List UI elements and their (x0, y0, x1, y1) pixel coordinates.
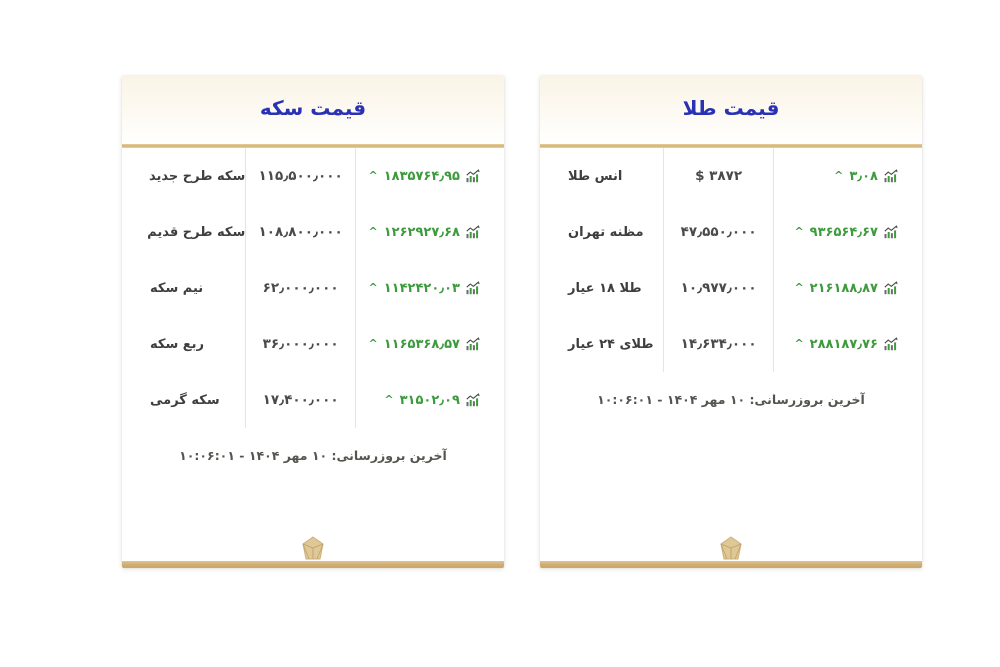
table-row[interactable]: ۳٫۰۸ ^ ۳۸۷۲ $ انس طلا (554, 148, 908, 204)
chart-trend-up-icon (884, 169, 898, 183)
chart-trend-up-icon (466, 281, 480, 295)
gold-table-body: ۳٫۰۸ ^ ۳۸۷۲ $ انس طلا (554, 148, 908, 372)
table-row[interactable]: ۱۸۳۵۷۶۴٫۹۵ ^ ۱۱۵٫۵۰۰٫۰۰۰ سکه طرح جدید (136, 148, 490, 204)
gold-row-2-change-value: ۲۱۶۱۸۸٫۸۷ (810, 281, 878, 296)
gold-price-card: قیمت طلا (540, 76, 922, 568)
gold-price-table: ۳٫۰۸ ^ ۳۸۷۲ $ انس طلا (554, 148, 908, 372)
coin-row-1-price-cell: ۱۰۸٫۸۰۰٫۰۰۰ (246, 204, 356, 260)
gold-row-2-price-value: ۱۰٫۹۷۷٫۰۰۰ (681, 280, 757, 296)
chart-trend-up-icon (884, 225, 898, 239)
coin-row-3-change-value: ۱۱۶۵۳۶۸٫۵۷ (384, 337, 460, 352)
coin-row-0-label-cell: سکه طرح جدید (136, 148, 246, 204)
gold-row-0-change-cell: ۳٫۰۸ ^ (773, 148, 908, 204)
arrow-up-icon: ^ (369, 282, 378, 293)
change-group: ۱۱۴۲۴۲۰٫۰۳ ^ (356, 281, 480, 296)
gold-row-3-price-value: ۱۴٫۶۳۴٫۰۰۰ (681, 336, 757, 352)
coin-last-updated: آخرین بروزرسانی: ۱۰ مهر ۱۴۰۴ - ۱۰:۰۶:۰۱ (136, 428, 490, 465)
gold-row-1-change-cell: ۹۳۶۵۶۴٫۶۷ ^ (773, 204, 908, 260)
arrow-up-icon: ^ (794, 226, 803, 237)
gold-row-1-price-cell: ۴۷٫۵۵۰٫۰۰۰ (664, 204, 774, 260)
gem-icon (714, 535, 748, 567)
arrow-up-icon: ^ (369, 338, 378, 349)
gold-card-title: قیمت طلا (683, 98, 780, 122)
gold-row-2-label-cell: طلا ۱۸ عیار (554, 260, 664, 316)
chart-trend-up-icon (466, 337, 480, 351)
coin-row-4-price-cell: ۱۷٫۴۰۰٫۰۰۰ (246, 372, 356, 428)
table-row[interactable]: ۱۱۶۵۳۶۸٫۵۷ ^ ۳۶٫۰۰۰٫۰۰۰ ربع سکه (136, 316, 490, 372)
coin-row-3-change-cell: ۱۱۶۵۳۶۸٫۵۷ ^ (355, 316, 490, 372)
chart-trend-up-icon (466, 393, 480, 407)
change-group: ۱۲۶۲۹۲۷٫۶۸ ^ (356, 225, 480, 240)
gold-row-1-change-value: ۹۳۶۵۶۴٫۶۷ (810, 225, 878, 240)
arrow-up-icon: ^ (369, 170, 378, 181)
table-row[interactable]: ۳۱۵۰۲٫۰۹ ^ ۱۷٫۴۰۰٫۰۰۰ سکه گرمی (136, 372, 490, 428)
coin-row-3-price-value: ۳۶٫۰۰۰٫۰۰۰ (263, 336, 339, 352)
coin-table-body: ۱۸۳۵۷۶۴٫۹۵ ^ ۱۱۵٫۵۰۰٫۰۰۰ سکه طرح جدید (136, 148, 490, 428)
coin-row-3-label-cell: ربع سکه (136, 316, 246, 372)
change-group: ۳۱۵۰۲٫۰۹ ^ (356, 393, 480, 408)
table-row[interactable]: ۹۳۶۵۶۴٫۶۷ ^ ۴۷٫۵۵۰٫۰۰۰ مظنه تهران (554, 204, 908, 260)
chart-trend-up-icon (884, 337, 898, 351)
coin-row-2-label-cell: نیم سکه (136, 260, 246, 316)
coin-row-1-change-value: ۱۲۶۲۹۲۷٫۶۸ (384, 225, 460, 240)
change-group: ۳٫۰۸ ^ (774, 169, 898, 184)
coin-row-3-price-cell: ۳۶٫۰۰۰٫۰۰۰ (246, 316, 356, 372)
change-group: ۲۱۶۱۸۸٫۸۷ ^ (774, 281, 898, 296)
arrow-up-icon: ^ (834, 170, 843, 181)
table-row[interactable]: ۲۸۸۱۸۷٫۷۶ ^ ۱۴٫۶۳۴٫۰۰۰ طلای ۲۴ عیار (554, 316, 908, 372)
page-root: قیمت طلا (0, 0, 1000, 667)
coin-row-2-price-value: ۶۲٫۰۰۰٫۰۰۰ (263, 280, 339, 296)
coin-row-2-change-value: ۱۱۴۲۴۲۰٫۰۳ (384, 281, 460, 296)
table-row[interactable]: ۱۱۴۲۴۲۰٫۰۳ ^ ۶۲٫۰۰۰٫۰۰۰ نیم سکه (136, 260, 490, 316)
gold-row-0-change-value: ۳٫۰۸ (849, 169, 878, 184)
arrow-up-icon: ^ (794, 282, 803, 293)
change-group: ۹۳۶۵۶۴٫۶۷ ^ (774, 225, 898, 240)
coin-row-2-price-cell: ۶۲٫۰۰۰٫۰۰۰ (246, 260, 356, 316)
gold-table-wrap: ۳٫۰۸ ^ ۳۸۷۲ $ انس طلا (540, 148, 922, 409)
gold-card-footer (540, 560, 922, 568)
coin-row-2-change-cell: ۱۱۴۲۴۲۰٫۰۳ ^ (355, 260, 490, 316)
arrow-up-icon: ^ (794, 338, 803, 349)
coin-row-0-price-cell: ۱۱۵٫۵۰۰٫۰۰۰ (246, 148, 356, 204)
gold-row-1-price-value: ۴۷٫۵۵۰٫۰۰۰ (681, 224, 757, 240)
gold-row-0-label-cell: انس طلا (554, 148, 664, 204)
chart-trend-up-icon (884, 281, 898, 295)
coin-card-footer (122, 560, 504, 568)
gold-row-2-price-cell: ۱۰٫۹۷۷٫۰۰۰ (664, 260, 774, 316)
coin-row-0-change-cell: ۱۸۳۵۷۶۴٫۹۵ ^ (355, 148, 490, 204)
coin-row-4-label-cell: سکه گرمی (136, 372, 246, 428)
gold-last-updated: آخرین بروزرسانی: ۱۰ مهر ۱۴۰۴ - ۱۰:۰۶:۰۱ (554, 372, 908, 409)
coin-table-wrap: ۱۸۳۵۷۶۴٫۹۵ ^ ۱۱۵٫۵۰۰٫۰۰۰ سکه طرح جدید (122, 148, 504, 465)
coin-card-header: قیمت سکه (122, 76, 504, 144)
table-row[interactable]: ۱۲۶۲۹۲۷٫۶۸ ^ ۱۰۸٫۸۰۰٫۰۰۰ سکه طرح قدیم (136, 204, 490, 260)
chart-trend-up-icon (466, 225, 480, 239)
gold-row-0-price-value: ۳۸۷۲ $ (695, 168, 742, 184)
coin-row-1-change-cell: ۱۲۶۲۹۲۷٫۶۸ ^ (355, 204, 490, 260)
coin-row-1-price-value: ۱۰۸٫۸۰۰٫۰۰۰ (258, 224, 342, 240)
coin-price-table: ۱۸۳۵۷۶۴٫۹۵ ^ ۱۱۵٫۵۰۰٫۰۰۰ سکه طرح جدید (136, 148, 490, 428)
gold-row-2-change-cell: ۲۱۶۱۸۸٫۸۷ ^ (773, 260, 908, 316)
table-row[interactable]: ۲۱۶۱۸۸٫۸۷ ^ ۱۰٫۹۷۷٫۰۰۰ طلا ۱۸ عیار (554, 260, 908, 316)
coin-row-0-change-value: ۱۸۳۵۷۶۴٫۹۵ (384, 169, 460, 184)
page-top-edge (0, 0, 1000, 1)
coin-card-title: قیمت سکه (260, 98, 366, 122)
change-group: ۱۸۳۵۷۶۴٫۹۵ ^ (356, 169, 480, 184)
coin-price-card: قیمت سکه (122, 76, 504, 568)
coin-row-4-change-cell: ۳۱۵۰۲٫۰۹ ^ (355, 372, 490, 428)
gold-row-3-change-cell: ۲۸۸۱۸۷٫۷۶ ^ (773, 316, 908, 372)
chart-trend-up-icon (466, 169, 480, 183)
gold-row-0-price-cell: ۳۸۷۲ $ (664, 148, 774, 204)
gold-card-header: قیمت طلا (540, 76, 922, 144)
coin-row-0-price-value: ۱۱۵٫۵۰۰٫۰۰۰ (258, 168, 342, 184)
coin-row-4-change-value: ۳۱۵۰۲٫۰۹ (400, 393, 460, 408)
coin-row-1-label-cell: سکه طرح قدیم (136, 204, 246, 260)
change-group: ۲۸۸۱۸۷٫۷۶ ^ (774, 337, 898, 352)
arrow-up-icon: ^ (369, 226, 378, 237)
gold-row-3-label-cell: طلای ۲۴ عیار (554, 316, 664, 372)
arrow-up-icon: ^ (384, 394, 393, 405)
gold-row-3-price-cell: ۱۴٫۶۳۴٫۰۰۰ (664, 316, 774, 372)
gem-icon (296, 535, 330, 567)
change-group: ۱۱۶۵۳۶۸٫۵۷ ^ (356, 337, 480, 352)
gold-row-1-label-cell: مظنه تهران (554, 204, 664, 260)
gold-row-3-change-value: ۲۸۸۱۸۷٫۷۶ (810, 337, 878, 352)
coin-row-4-price-value: ۱۷٫۴۰۰٫۰۰۰ (263, 392, 339, 408)
